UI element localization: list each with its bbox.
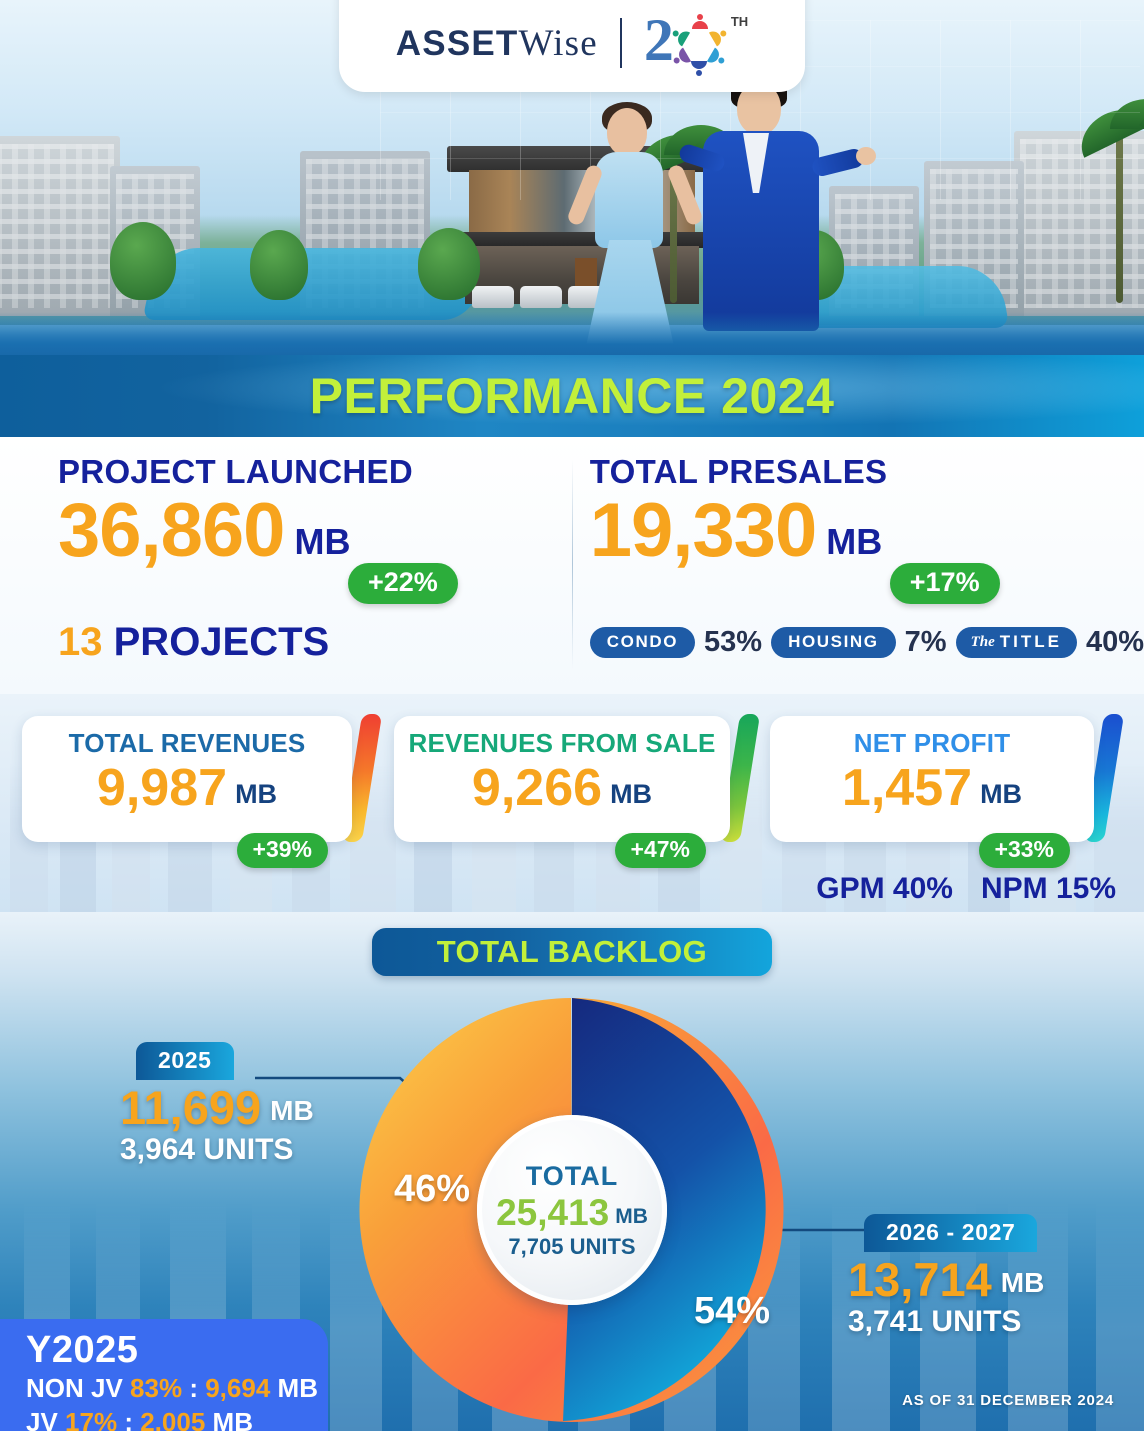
presales-segment-list: CONDO 53% HOUSING 7% The TITLE 40% <box>590 626 1144 659</box>
car-1 <box>472 286 514 308</box>
donut-total-unit: MB <box>615 1205 648 1231</box>
y2025-label-non-jv: NON JV <box>26 1373 123 1403</box>
card-unit: MB <box>235 779 277 814</box>
callout-tag: 2026 - 2027 <box>864 1214 1037 1252</box>
hero-bottom-glow <box>0 312 1144 358</box>
logo-divider <box>620 18 622 68</box>
callout-value: 11,699 <box>120 1084 261 1131</box>
building-windows <box>0 144 114 308</box>
y2025-row-jv: JV 17% : 2,005 MB <box>26 1407 328 1431</box>
building-left-1 <box>0 136 120 316</box>
title-wordmark: TITLE <box>1000 632 1062 652</box>
logo-text-asset: ASSET <box>396 24 519 63</box>
card-growth-badge-wrap: +33% <box>979 833 1070 868</box>
callout-2026-2027: 2026 - 2027 13,714 MB 3,741 UNITS <box>848 1214 1044 1339</box>
assetwise-logo: ASSETWise <box>396 22 598 65</box>
kpi-projects-label: PROJECTS <box>114 620 330 664</box>
y2025-sep: : <box>124 1407 140 1431</box>
brand-logo-card: ASSETWise 2 TH <box>339 0 805 92</box>
card-net-profit: NET PROFIT 1,457 MB +33% <box>770 716 1094 842</box>
callout-value: 13,714 <box>848 1256 992 1303</box>
card-total-revenues: TOTAL REVENUES 9,987 MB +39% <box>22 716 352 842</box>
card-unit: MB <box>610 779 652 814</box>
y2025-title: Y2025 <box>26 1331 328 1370</box>
anniversary-suffix: TH <box>731 14 748 29</box>
title-script-prefix: The <box>971 634 995 651</box>
car-2 <box>520 286 562 308</box>
anniversary-people-ring-icon <box>671 16 729 74</box>
card-growth-badge-wrap: +47% <box>615 833 706 868</box>
card-value: 9,987 <box>97 762 227 814</box>
performance-title-band: PERFORMANCE 2024 <box>0 355 1144 437</box>
kpi-unit: MB <box>826 521 882 569</box>
segment-pill-title: The TITLE <box>956 627 1077 658</box>
kpi-projects-count: 13 <box>58 620 103 664</box>
tree-3 <box>418 228 480 300</box>
card-label: REVENUES FROM SALE <box>394 728 730 759</box>
card-label: TOTAL REVENUES <box>22 728 352 759</box>
y2025-value-non-jv: 9,694 <box>205 1373 270 1403</box>
y2025-unit-non-jv: MB <box>278 1373 318 1403</box>
kpi-projects-line: 13 PROJECTS <box>58 620 556 665</box>
backlog-donut-chart: TOTAL 25,413 MB 7,705 UNITS 46% 54% <box>352 990 792 1430</box>
y2025-unit-jv: MB <box>213 1407 253 1431</box>
callout-unit: MB <box>270 1095 314 1131</box>
callout-units: 3,964 UNITS <box>120 1133 314 1167</box>
card-growth-badge-wrap: +39% <box>237 833 328 868</box>
growth-badge: +17% <box>890 563 1000 604</box>
kpi-value: 36,860 <box>58 493 284 569</box>
slice-pct-2025: 46% <box>394 1168 470 1211</box>
card-revenues-from-sale: REVENUES FROM SALE 9,266 MB +47% <box>394 716 730 842</box>
financial-cards-section: TOTAL REVENUES 9,987 MB +39% REVENUES FR… <box>0 694 1144 912</box>
kpi-project-launched: PROJECT LAUNCHED 36,860 MB +22% 13 PROJE… <box>0 437 556 694</box>
callout-units: 3,741 UNITS <box>848 1305 1044 1339</box>
segment-pct-housing: 7% <box>905 626 947 659</box>
card-unit: MB <box>980 779 1022 814</box>
card-value: 1,457 <box>842 762 972 814</box>
donut-center-total: TOTAL 25,413 MB 7,705 UNITS <box>477 1115 667 1305</box>
anniversary-number: 2 <box>644 12 674 69</box>
gpm-metric: GPM 40% <box>816 872 953 906</box>
segment-pct-title: 40% <box>1086 626 1144 659</box>
card-value: 9,266 <box>472 762 602 814</box>
donut-total-value: 25,413 <box>496 1194 609 1231</box>
kpi-total-presales: TOTAL PRESALES 19,330 MB +17% CONDO 53% … <box>556 437 1144 694</box>
card-label: NET PROFIT <box>770 728 1094 759</box>
donut-total-units: 7,705 UNITS <box>508 1234 635 1260</box>
y2025-summary-panel: Y2025 NON JV 83% : 9,694 MB JV 17% : 2,0… <box>0 1319 328 1431</box>
logo-text-wise: Wise <box>519 23 598 64</box>
callout-unit: MB <box>1001 1267 1045 1303</box>
y2025-sep: : <box>189 1373 205 1403</box>
kpi-label: PROJECT LAUNCHED <box>58 453 556 491</box>
callout-2025: 2025 11,699 MB 3,964 UNITS <box>120 1042 314 1167</box>
segment-pill-housing: HOUSING <box>771 627 896 658</box>
kpi-unit: MB <box>294 521 350 569</box>
slice-pct-2026: 54% <box>694 1290 770 1333</box>
segment-pill-condo: CONDO <box>590 627 695 658</box>
growth-badge: +22% <box>348 563 458 604</box>
kpi-label: TOTAL PRESALES <box>590 453 1144 491</box>
total-backlog-section: TOTAL BACKLOG TOTAL 25,413 MB 7 <box>0 912 1144 1431</box>
kpi-value: 19,330 <box>590 493 816 569</box>
y2025-row-non-jv: NON JV 83% : 9,694 MB <box>26 1373 328 1404</box>
npm-metric: NPM 15% <box>981 872 1116 906</box>
kpi-row: PROJECT LAUNCHED 36,860 MB +22% 13 PROJE… <box>0 437 1144 694</box>
margin-metrics: GPM 40% NPM 15% <box>816 872 1116 906</box>
anniversary-mark: 2 TH <box>644 12 748 74</box>
growth-badge: +33% <box>979 833 1070 868</box>
tree-2 <box>250 230 308 300</box>
growth-badge: +39% <box>237 833 328 868</box>
page-title: PERFORMANCE 2024 <box>0 355 1144 437</box>
segment-pct-condo: 53% <box>704 626 762 659</box>
y2025-value-jv: 2,005 <box>140 1407 205 1431</box>
y2025-label-jv: JV <box>26 1407 58 1431</box>
callout-tag: 2025 <box>136 1042 234 1080</box>
growth-badge: +47% <box>615 833 706 868</box>
as-of-date: AS OF 31 DECEMBER 2024 <box>902 1392 1114 1409</box>
tree-1 <box>110 222 176 300</box>
y2025-pct-non-jv: 83% <box>130 1373 182 1403</box>
y2025-pct-jv: 17% <box>65 1407 117 1431</box>
donut-total-label: TOTAL <box>526 1161 619 1192</box>
